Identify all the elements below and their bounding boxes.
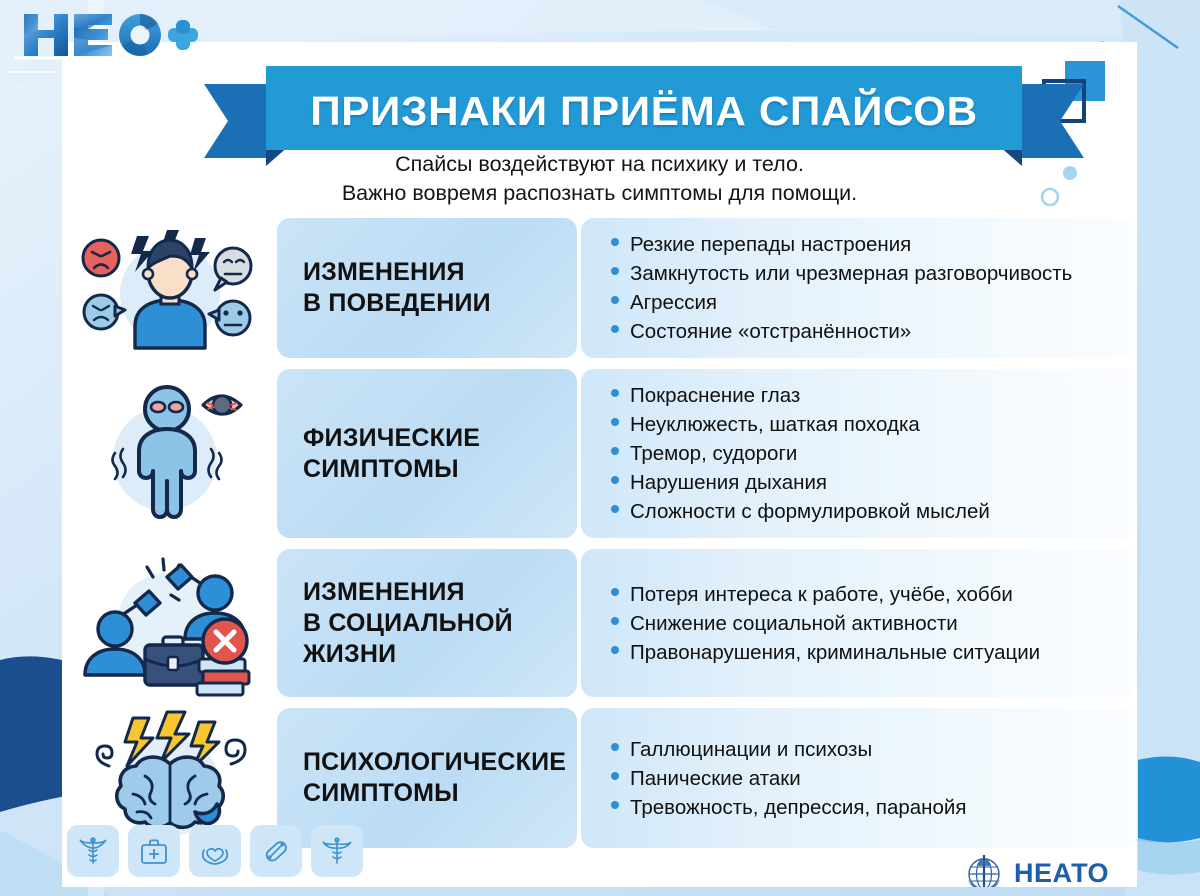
who-label: НЕАТО — [1014, 858, 1109, 888]
page-title: ПРИЗНАКИ ПРИЁМА СПАЙСОВ — [191, 88, 1097, 135]
caduceus-wings-icon — [311, 825, 363, 877]
list-item: Тревожность, депрессия, паранойя — [611, 793, 1121, 822]
list-item: Покраснение глаз — [611, 381, 1121, 410]
section-title-social: ИЗМЕНЕНИЯ В СОЦИАЛЬНОЙ ЖИЗНИ — [277, 549, 577, 697]
list-item: Замкнутость или чрезмерная разговорчивос… — [611, 259, 1121, 288]
first-aid-kit-icon — [128, 825, 180, 877]
list-item: Агрессия — [611, 288, 1121, 317]
list-item: Снижение социальной активности — [611, 609, 1121, 638]
angry-person-emotions-icon — [62, 224, 277, 352]
list-item: Состояние «отстранённости» — [611, 317, 1121, 346]
heart-in-hands-icon — [189, 825, 241, 877]
neo-plus-logo-icon — [18, 8, 198, 62]
bullet-dot-icon — [611, 238, 619, 246]
infographic-card: ПРИЗНАКИ ПРИЁМА СПАЙСОВ Спайсы воздейств… — [62, 42, 1137, 887]
bullet-dot-icon — [611, 296, 619, 304]
list-item: Тремор, судороги — [611, 439, 1121, 468]
subtitle-line-2: Важно вовремя распознать симптомы для по… — [62, 179, 1137, 208]
pill-capsule-icon — [250, 825, 302, 877]
list-item: Резкие перепады настроения — [611, 230, 1121, 259]
sections-list: ИЗМЕНЕНИЯ В ПОВЕДЕНИИ Резкие перепады на… — [62, 218, 1137, 859]
section-title-physical: ФИЗИЧЕСКИЕ СИМПТОМЫ — [277, 369, 577, 538]
bullet-dot-icon — [611, 801, 619, 809]
trembling-body-red-eye-icon — [62, 379, 277, 529]
bullet-dot-icon — [611, 389, 619, 397]
bullet-dot-icon — [611, 505, 619, 513]
bullet-dot-icon — [611, 418, 619, 426]
bullet-dot-icon — [611, 476, 619, 484]
section-social: ИЗМЕНЕНИЯ В СОЦИАЛЬНОЙ ЖИЗНИ Потеря инте… — [62, 549, 1137, 697]
section-bullets-social: Потеря интереса к работе, учёбе, хобби С… — [581, 549, 1137, 697]
footer-bar: НЕАТО — [62, 825, 1137, 887]
bullet-dot-icon — [611, 617, 619, 625]
list-item: Галлюцинации и психозы — [611, 735, 1121, 764]
who-emblem-icon — [962, 851, 1006, 887]
bullet-dot-icon — [611, 447, 619, 455]
subtitle-block: Спайсы воздействуют на психику и тело. В… — [62, 150, 1137, 208]
section-bullets-behavior: Резкие перепады настроения Замкнутость и… — [581, 218, 1137, 358]
list-item: Панические атаки — [611, 764, 1121, 793]
list-item: Правонарушения, криминальные ситуации — [611, 638, 1121, 667]
section-behavior: ИЗМЕНЕНИЯ В ПОВЕДЕНИИ Резкие перепады на… — [62, 218, 1137, 358]
broken-social-link-briefcase-icon — [62, 549, 277, 697]
bullet-dot-icon — [611, 646, 619, 654]
bullet-dot-icon — [611, 267, 619, 275]
list-item: Неуклюжесть, шаткая походка — [611, 410, 1121, 439]
bullet-dot-icon — [611, 772, 619, 780]
subtitle-line-1: Спайсы воздействуют на психику и тело. — [62, 150, 1137, 179]
section-title-behavior: ИЗМЕНЕНИЯ В ПОВЕДЕНИИ — [277, 218, 577, 358]
list-item: Сложности с формулировкой мыслей — [611, 497, 1121, 526]
caduceus-icon — [67, 825, 119, 877]
list-item: Потеря интереса к работе, учёбе, хобби — [611, 580, 1121, 609]
section-bullets-physical: Покраснение глаз Неуклюжесть, шаткая пох… — [581, 369, 1137, 538]
section-physical: ФИЗИЧЕСКИЕ СИМПТОМЫ Покраснение глаз Неу… — [62, 369, 1137, 538]
bullet-dot-icon — [611, 588, 619, 596]
bullet-dot-icon — [611, 325, 619, 333]
who-logo: НЕАТО — [962, 851, 1109, 887]
bullet-dot-icon — [611, 743, 619, 751]
list-item: Нарушения дыхания — [611, 468, 1121, 497]
neo-plus-logo — [18, 8, 198, 62]
